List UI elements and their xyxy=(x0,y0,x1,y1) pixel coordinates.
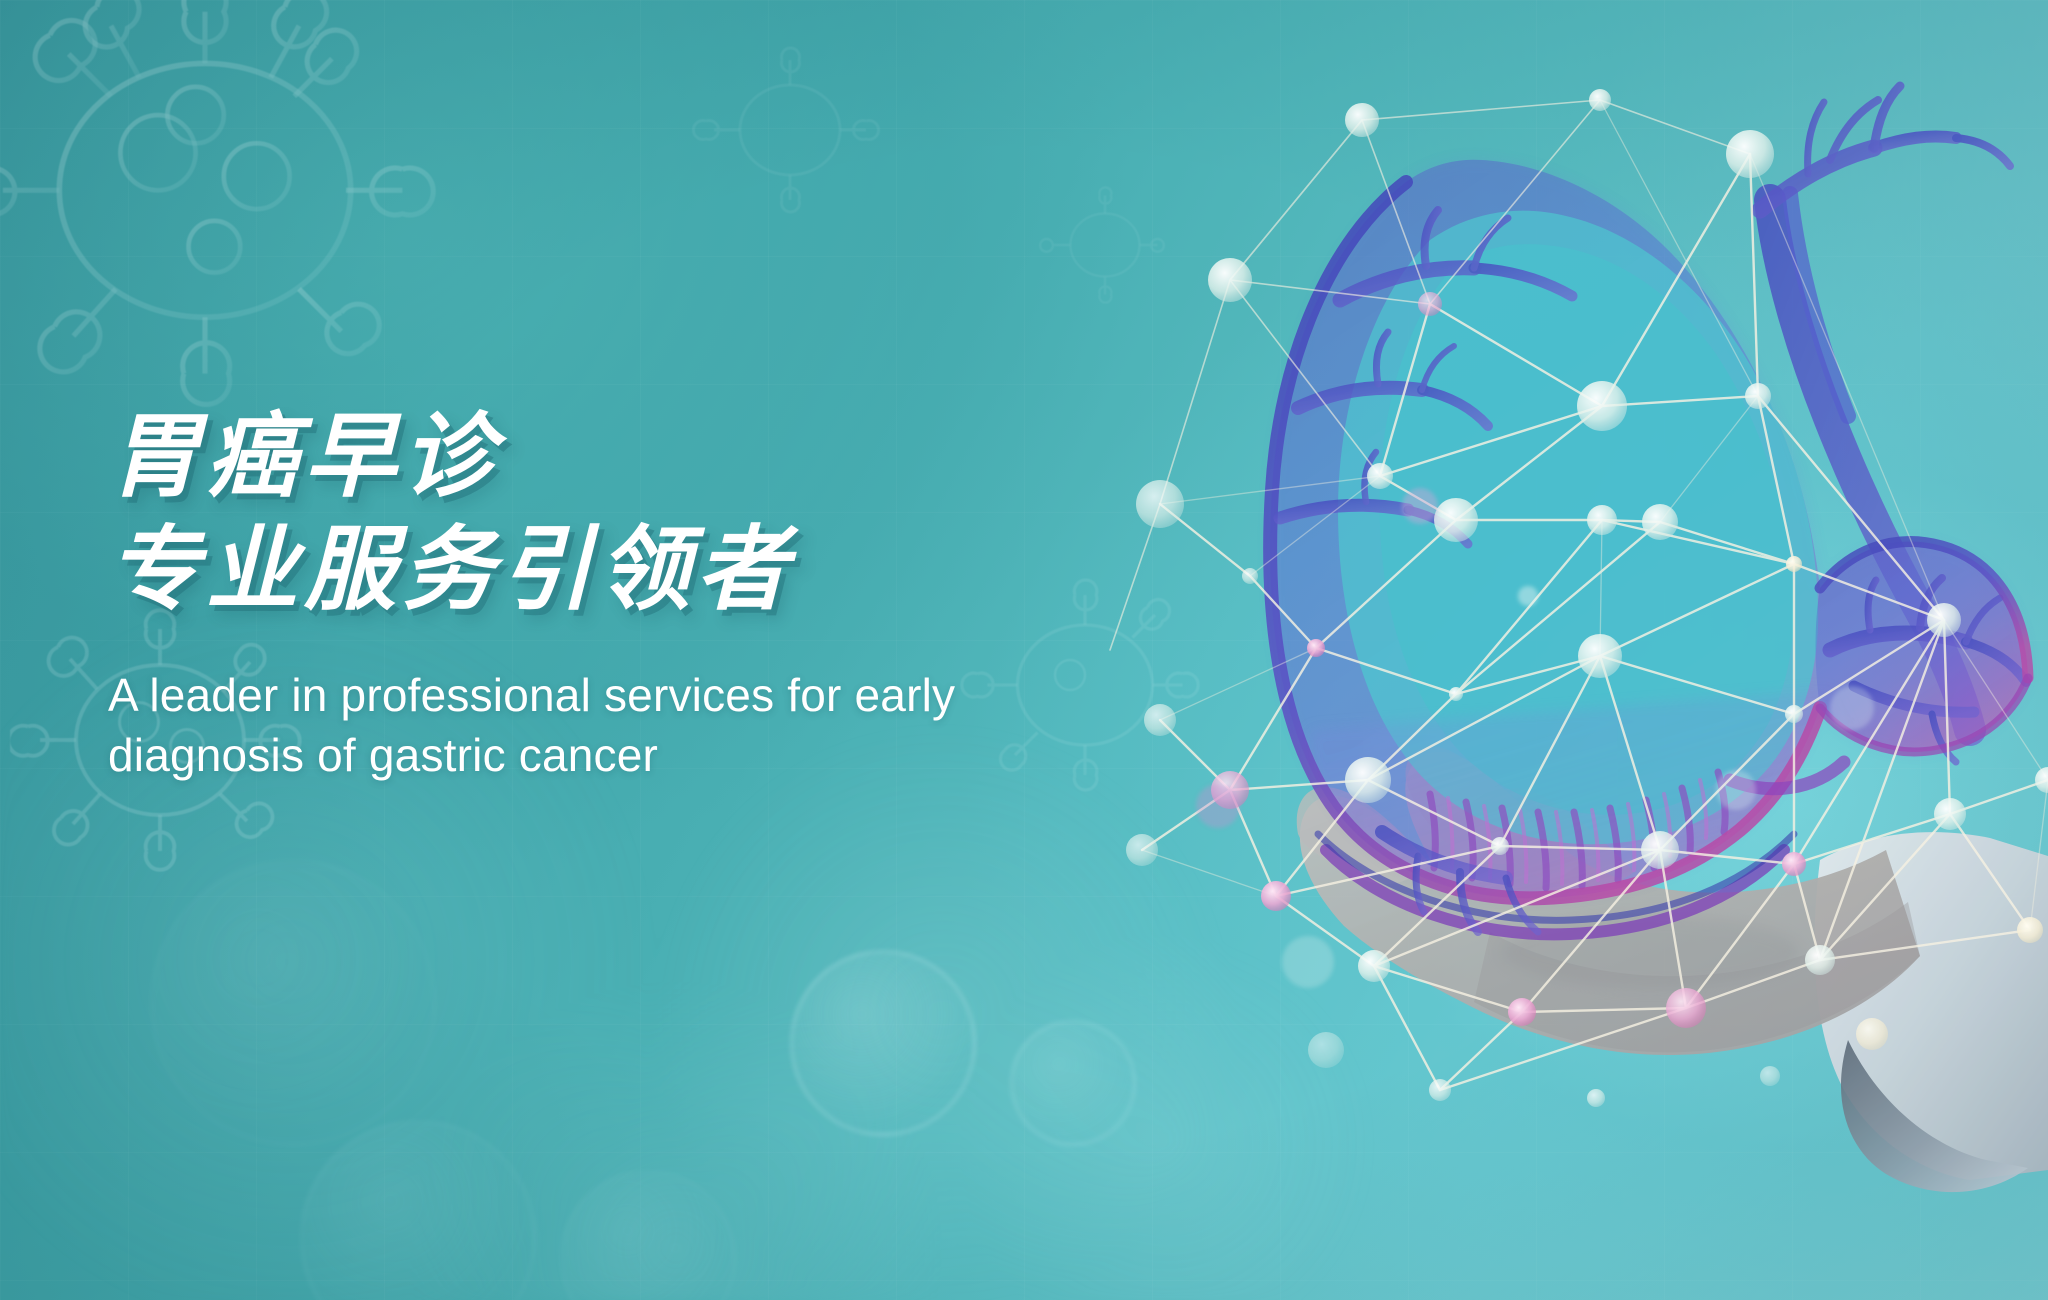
network-node xyxy=(1589,89,1611,111)
network-node xyxy=(1577,381,1627,431)
network-node xyxy=(1587,505,1617,535)
network-node-glow xyxy=(1518,586,1538,606)
network-node xyxy=(1449,687,1463,701)
network-node xyxy=(1856,1018,1888,1050)
network-node xyxy=(1760,1066,1780,1086)
network-node xyxy=(1927,603,1961,637)
network-node xyxy=(1786,556,1802,572)
network-node xyxy=(1126,834,1158,866)
network-node xyxy=(1805,945,1835,975)
virus-watermark-icon xyxy=(0,0,440,390)
network-node xyxy=(1261,881,1291,911)
network-node xyxy=(1418,292,1442,316)
network-node xyxy=(1345,757,1391,803)
network-node-glow xyxy=(1282,936,1334,988)
network-node xyxy=(1726,130,1774,178)
network-node xyxy=(1208,258,1252,302)
network-node xyxy=(1491,837,1509,855)
network-node xyxy=(1782,852,1806,876)
network-node xyxy=(1785,705,1803,723)
network-node xyxy=(1345,103,1379,137)
network-node xyxy=(1367,463,1393,489)
subtitle-line-1: A leader in professional services for ea… xyxy=(108,669,955,721)
network-node xyxy=(1307,639,1325,657)
hero-text-block: 胃癌早诊 专业服务引领者 A leader in professional se… xyxy=(108,408,1138,786)
network-node xyxy=(1587,1089,1605,1107)
network-node xyxy=(1934,798,1966,830)
network-node xyxy=(1508,998,1536,1026)
network-node xyxy=(1136,480,1184,528)
network-node xyxy=(1578,634,1622,678)
banner-root: 胃癌早诊 专业服务引领者 A leader in professional se… xyxy=(0,0,2048,1300)
network-node xyxy=(1641,831,1679,869)
network-node xyxy=(1144,704,1176,736)
network-node xyxy=(2017,917,2043,943)
page-subtitle: A leader in professional services for ea… xyxy=(108,665,1118,786)
network-node xyxy=(1666,988,1706,1028)
network-node-glow xyxy=(1716,770,1756,810)
page-title: 胃癌早诊 专业服务引领者 xyxy=(108,408,1138,621)
network-node xyxy=(1642,504,1678,540)
network-node xyxy=(1434,498,1478,542)
bokeh-circle xyxy=(150,860,436,1146)
subtitle-line-2: diagnosis of gastric cancer xyxy=(108,729,658,781)
headline-line-2: 专业服务引领者 xyxy=(108,521,1138,620)
hand-holding-stomach-illustration xyxy=(1130,90,2048,1300)
bokeh-circle xyxy=(790,950,976,1136)
network-node xyxy=(1242,568,1258,584)
vascular-branches-top xyxy=(1760,86,2010,210)
network-node-glow xyxy=(1196,784,1240,828)
network-node xyxy=(1429,1079,1451,1101)
network-node xyxy=(1358,950,1390,982)
network-node xyxy=(1308,1032,1344,1068)
network-node-glow xyxy=(1402,488,1438,524)
network-node xyxy=(2035,767,2048,793)
network-node xyxy=(1745,383,1771,409)
headline-line-1: 胃癌早诊 xyxy=(108,408,1138,507)
bokeh-circle xyxy=(1010,1020,1136,1146)
network-node-glow xyxy=(1830,686,1874,730)
virus-watermark-icon xyxy=(690,30,890,230)
